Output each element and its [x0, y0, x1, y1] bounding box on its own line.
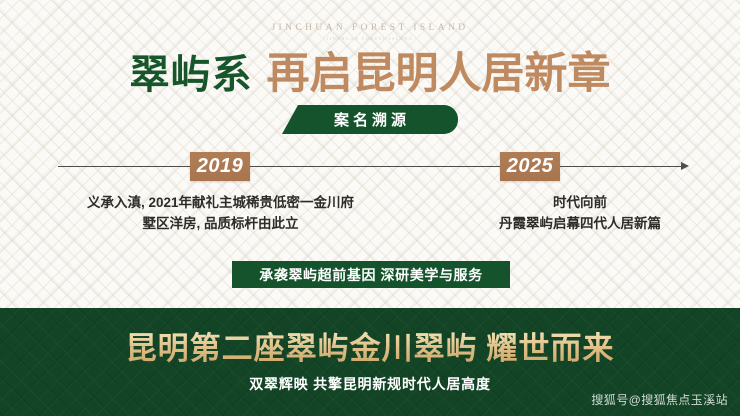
timeline-arrow-icon: [681, 162, 689, 170]
source-watermark: 搜狐号@搜狐焦点玉溪站: [591, 391, 728, 408]
brand-lockup: JINCHUAN FOREST ISLAND JINCHUAN FOREST I…: [0, 22, 740, 43]
bottom-banner-title: 昆明第二座翠屿金川翠屿 耀世而来: [0, 330, 740, 368]
timeline-year-badge-2025: 2025: [500, 152, 560, 181]
bottom-banner: 昆明第二座翠屿金川翠屿 耀世而来 双翠辉映 共擎昆明新规时代人居高度 搜狐号@搜…: [0, 308, 740, 416]
headline-series-name: 翠屿系: [130, 52, 253, 97]
timeline-entry-line: 墅区洋房, 品质标杆由此立: [48, 213, 393, 234]
section-ribbon-label: 案名溯源: [330, 109, 410, 130]
timeline-axis: [58, 166, 683, 167]
timeline-entry-2019: 义承入滇, 2021年献礼主城稀贵低密一金川府 墅区洋房, 品质标杆由此立: [48, 192, 393, 234]
brand-english-name: JINCHUAN FOREST ISLAND: [0, 22, 740, 35]
page-title: 翠屿系再启昆明人居新章: [0, 50, 740, 100]
timeline-year-label: 2025: [507, 155, 554, 178]
timeline-entry-line: 丹霞翠屿启幕四代人居新篇: [425, 213, 735, 234]
section-ribbon: 案名溯源: [282, 105, 458, 134]
timeline-entry-line: 义承入滇, 2021年献礼主城稀贵低密一金川府: [48, 192, 393, 213]
highlight-bar-label: 承袭翠屿超前基因 深研美学与服务: [259, 265, 483, 285]
brand-english-subline: JINCHUAN FOREST ISLAND: [0, 35, 740, 43]
highlight-bar: 承袭翠屿超前基因 深研美学与服务: [232, 261, 510, 288]
timeline-year-badge-2019: 2019: [190, 152, 250, 181]
timeline-year-label: 2019: [197, 155, 244, 178]
timeline-entry-line: 时代向前: [425, 192, 735, 213]
timeline-entry-2025: 时代向前 丹霞翠屿启幕四代人居新篇: [425, 192, 735, 234]
poster-canvas: JINCHUAN FOREST ISLAND JINCHUAN FOREST I…: [0, 0, 740, 416]
headline-tagline: 再启昆明人居新章: [267, 51, 611, 98]
